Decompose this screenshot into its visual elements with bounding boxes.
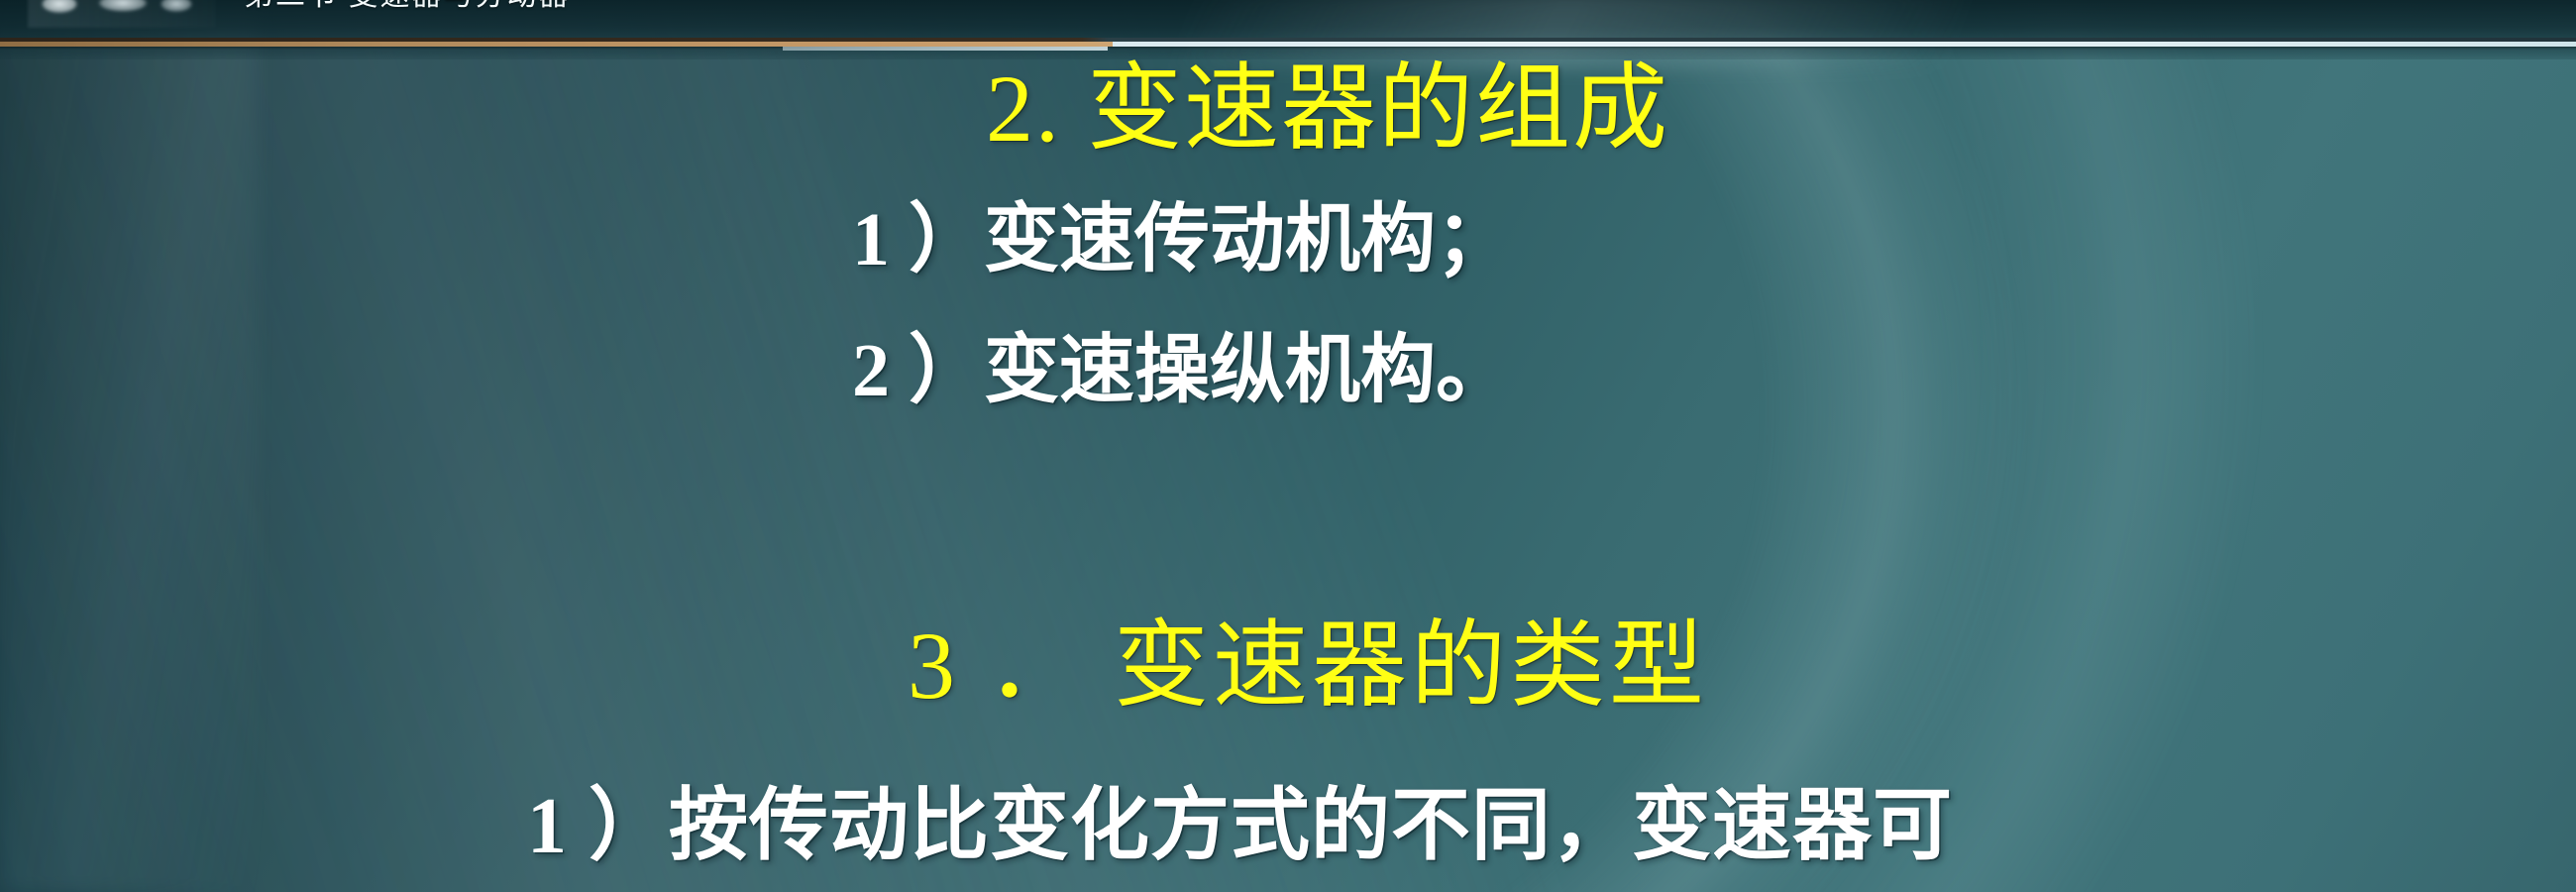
header-divider (0, 38, 2576, 50)
bullet-item-3: 1 ）按传动比变化方式的不同，变速器可 (527, 783, 1953, 870)
header-title: 第二节 变速器与分动器 (244, 0, 571, 15)
section-heading-composition: 2. 变速器的组成 (0, 56, 2576, 163)
bullet-item-1: 1 ）变速传动机构； (852, 198, 1511, 281)
running-header: 第二节 变速器与分动器 (0, 0, 2576, 40)
course-logo-icon (28, 0, 216, 28)
bullet-item-2: 2 ）变速操纵机构。 (852, 329, 1511, 412)
slide-body: 2. 变速器的组成 1 ）变速传动机构； 2 ）变速操纵机构。 3 ． 变速器的… (0, 50, 2576, 892)
slide-canvas: 第二节 变速器与分动器 2. 变速器的组成 1 ）变速传动机构； 2 ）变速操纵… (0, 0, 2576, 892)
section-heading-types: 3 ． 变速器的类型 (0, 613, 2576, 720)
